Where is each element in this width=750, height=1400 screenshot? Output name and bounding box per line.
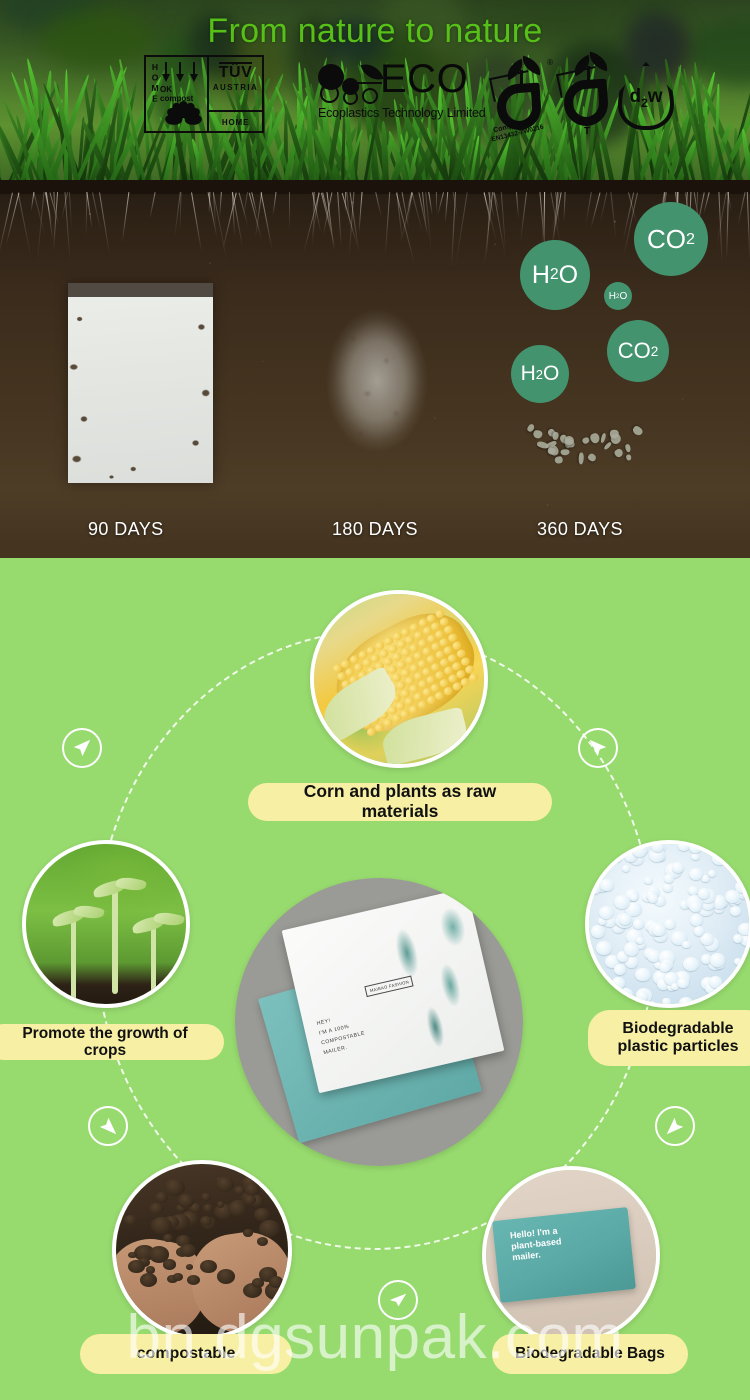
label-biodegradable-bags: Biodegradable Bags — [492, 1334, 688, 1374]
paper-plane-icon — [97, 1115, 119, 1137]
molecule-bubble-co: CO2 — [607, 320, 669, 382]
node-biodegradable-bags: Hello! I'm a plant-based mailer. — [482, 1166, 660, 1344]
paper-plane-icon — [587, 737, 609, 759]
day-label: 180 DAYS — [332, 519, 418, 540]
eco-subtitle: Ecoplastics Technology Limited — [318, 106, 485, 120]
lifecycle-section: Corn and plants as raw materials Promote… — [0, 558, 750, 1400]
plastic-pellets-photo — [589, 844, 749, 1004]
label-promote-crop-growth: Promote the growth of crops — [0, 1024, 224, 1060]
tuv-wordmark: TÜV — [219, 62, 253, 80]
node-corn — [310, 590, 488, 768]
node-compost-soil — [112, 1160, 292, 1340]
cycle-arrow-marker-bottom — [378, 1280, 418, 1320]
flower-icon — [166, 97, 202, 129]
node-center-product: HEY! I'M A 100% COMPOSTABLE MAILER. MAIB… — [235, 878, 523, 1166]
cycle-arrow-marker-left-top — [62, 728, 102, 768]
ok-compost-home-vertical-label: HOME — [147, 62, 160, 128]
day-label: 90 DAYS — [88, 519, 164, 540]
center-product-lines: HEY! I'M A 100% COMPOSTABLE MAILER. — [316, 1010, 368, 1059]
node-crop-growth — [22, 840, 190, 1008]
eco-ecoplastics-logo: ECO Ecoplastics Technology Limited — [318, 62, 478, 132]
molecule-bubble-ho: H2O — [604, 282, 632, 310]
down-arrows-icon — [162, 62, 199, 83]
bag-stage-90-days — [68, 283, 213, 483]
ok-compost-home-certification-icon: HOME OK compost TÜV AUSTRIA HOME — [144, 55, 264, 133]
node-plastic-particles — [585, 840, 750, 1008]
molecule-bubble-ho: H2O — [520, 240, 590, 310]
paper-plane-icon — [664, 1115, 686, 1137]
cycle-arrow-marker-right-bottom — [655, 1106, 695, 1146]
cycle-arrow-marker-left-bottom — [88, 1106, 128, 1146]
paper-plane-icon — [71, 737, 93, 759]
tuv-austria-panel: TÜV AUSTRIA HOME — [209, 57, 262, 131]
eco-wordmark: ECO — [380, 57, 468, 101]
banner-title: From nature to nature — [0, 12, 750, 51]
bag-wear-texture — [68, 283, 213, 483]
cycle-arrow-marker-right-top — [578, 728, 618, 768]
bag-fragment-texture — [318, 298, 436, 463]
d2w-logo-icon: d2w — [614, 58, 680, 138]
registered-mark: ® — [547, 58, 553, 67]
eco-stem-icon — [358, 82, 382, 84]
tuv-austria-label: AUSTRIA — [209, 83, 262, 92]
teal-bag-text: Hello! I'm a plant-based mailer. — [510, 1226, 564, 1263]
d2w-wordmark: d2w — [614, 86, 678, 110]
label-biodegradable-plastic-particles: Biodegradable plastic particles — [588, 1010, 750, 1066]
ok-compost-panel: HOME OK compost — [146, 57, 209, 131]
bag-stage-180-days — [318, 298, 436, 463]
seedling-photo — [26, 844, 186, 1004]
tuv-home-label: HOME — [209, 112, 262, 131]
teal-mailer-bag: Hello! I'm a plant-based mailer. — [492, 1207, 636, 1302]
bag-stage-360-days-residue — [527, 422, 647, 466]
label-corn-raw-materials: Corn and plants as raw materials — [248, 783, 552, 821]
compost-hands-photo — [116, 1164, 288, 1336]
compostable-seedling-tuv-icon: T — [560, 52, 622, 134]
molecule-bubble-ho: H2O — [511, 345, 569, 403]
soil-degradation-section: CO2H2OH2OCO2H2O 90 DAYS180 DAYS360 DAYS — [0, 180, 750, 558]
corn-photo — [314, 594, 484, 764]
certification-logo-row: HOME OK compost TÜV AUSTRIA HOME — [0, 52, 750, 147]
compostable-en13432-icon: ® Compostable EN13432-7W0216 — [493, 56, 555, 138]
label-particles-line1: Biodegradable — [622, 1020, 733, 1038]
paper-plane-icon — [387, 1289, 409, 1311]
day-label: 360 DAYS — [537, 519, 623, 540]
infographic-page: From nature to nature HOME OK compost TÜ… — [0, 0, 750, 1400]
label-compostable: compostable — [80, 1334, 292, 1374]
teal-mailer-photo: Hello! I'm a plant-based mailer. — [486, 1170, 656, 1340]
grass-banner: From nature to nature HOME OK compost TÜ… — [0, 0, 750, 180]
center-product-photo: HEY! I'M A 100% COMPOSTABLE MAILER. MAIB… — [235, 878, 523, 1166]
seedling-tuv-mark-label: T — [584, 126, 590, 137]
label-particles-line2: plastic particles — [618, 1038, 739, 1056]
molecule-bubble-co: CO2 — [634, 202, 708, 276]
